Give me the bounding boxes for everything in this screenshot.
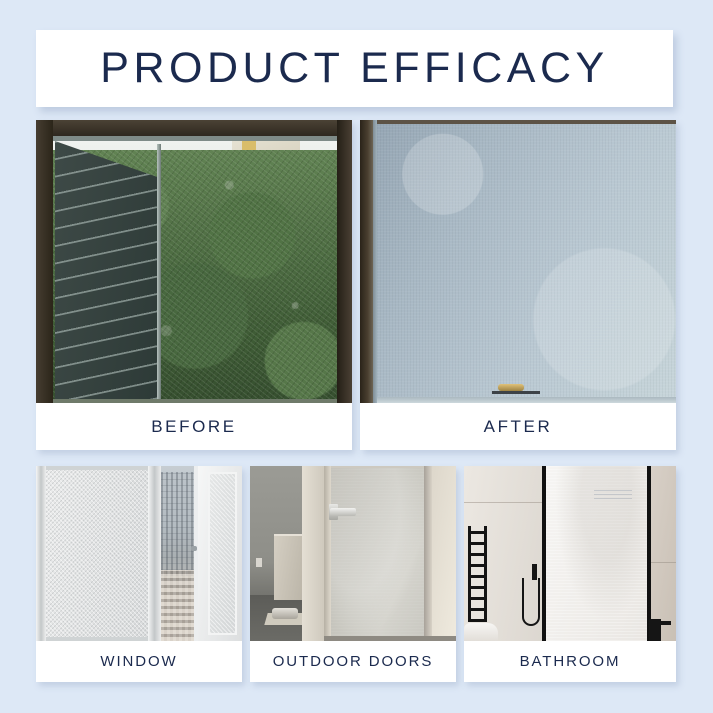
tile-seam-right <box>651 562 676 563</box>
window-shutter-panel <box>55 141 159 403</box>
window-frame-left <box>360 120 373 403</box>
wall-right <box>432 466 456 641</box>
wall-switch <box>256 558 262 567</box>
application-card-outdoor-doors: OUTDOOR DOORS <box>250 466 456 682</box>
application-card-bathroom: BATHROOM <box>464 466 676 682</box>
window-handle <box>191 546 197 551</box>
doors-caption-label: OUTDOOR DOORS <box>273 653 434 670</box>
city-view <box>161 466 194 641</box>
shutter-edge <box>157 144 161 403</box>
latch-bar <box>492 391 540 394</box>
door-frame-right <box>424 466 432 641</box>
frosted-glass-door <box>331 468 424 638</box>
rack-rungs <box>468 526 487 622</box>
window-inner-header <box>53 136 337 141</box>
shower-hose <box>522 578 540 626</box>
application-card-window: WINDOW <box>36 466 242 682</box>
window-frame-left-inner <box>373 120 377 403</box>
window-mullion-center <box>148 466 161 641</box>
window-frame-top <box>360 120 676 124</box>
comparison-card-before: BEFORE <box>36 120 352 450</box>
open-casement-sash <box>194 466 242 641</box>
comparison-card-after: AFTER <box>360 120 676 450</box>
before-photo <box>36 120 352 403</box>
before-caption-label: BEFORE <box>151 417 237 437</box>
door-lever-handle <box>330 508 356 516</box>
window-caption-label: WINDOW <box>100 653 177 670</box>
window-caption-bar: WINDOW <box>36 641 242 682</box>
apartment-towers <box>161 472 194 576</box>
floor-object <box>272 608 298 619</box>
after-caption-label: AFTER <box>484 417 553 437</box>
bathroom-application-photo <box>464 466 676 641</box>
page-title: PRODUCT EFFICACY <box>100 44 608 93</box>
panel-marking <box>594 490 632 499</box>
after-caption-bar: AFTER <box>360 403 676 450</box>
doors-application-photo <box>250 466 456 641</box>
doors-caption-bar: OUTDOOR DOORS <box>250 641 456 682</box>
bathroom-wall-right <box>651 466 676 641</box>
frosted-glass-texture <box>377 124 676 403</box>
bathroom-caption-label: BATHROOM <box>520 653 621 670</box>
window-frame-top <box>36 120 352 136</box>
page-title-card: PRODUCT EFFICACY <box>36 30 673 107</box>
door-jamb-left <box>302 466 324 641</box>
window-frame-left <box>36 120 53 403</box>
before-caption-bar: BEFORE <box>36 403 352 450</box>
door-jamb-center <box>324 466 331 641</box>
window-mullion-left <box>36 466 46 641</box>
tile-seam <box>464 502 542 503</box>
window-frame-right <box>337 120 352 403</box>
shutter-slats <box>55 141 159 403</box>
window-application-photo <box>36 466 242 641</box>
frosted-shower-panel <box>546 466 647 641</box>
panel-frame-bar-left <box>542 466 546 641</box>
towel-ladder-rack <box>468 526 487 622</box>
frosted-pane-left <box>46 470 148 637</box>
door-frost-texture <box>331 468 424 638</box>
casement-frosted-glass <box>208 472 237 635</box>
black-fixture <box>649 619 661 641</box>
low-rise-buildings <box>161 570 194 641</box>
after-photo <box>360 120 676 403</box>
bathroom-caption-bar: BATHROOM <box>464 641 676 682</box>
window-latch <box>498 384 524 391</box>
bathtub-edge <box>464 623 498 641</box>
